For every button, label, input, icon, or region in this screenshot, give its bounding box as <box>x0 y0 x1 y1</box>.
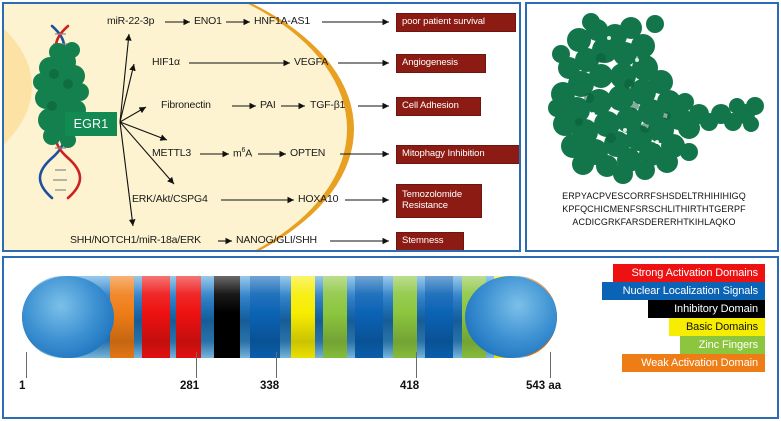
outcome-angiogenesis[interactable]: Angiogenesis <box>396 54 486 73</box>
node-m6a[interactable]: m6A <box>233 147 252 160</box>
egr1-figure: EGR1 <box>0 0 781 421</box>
outcome-cell-adhesion[interactable]: Cell Adhesion <box>396 97 481 116</box>
node-hnf1a-as1[interactable]: HNF1A-AS1 <box>254 15 310 27</box>
node-hoxa10[interactable]: HOXA10 <box>298 193 338 205</box>
domain-bar-wrapper <box>22 276 557 358</box>
protein-sequence: ERPYACPVESCORRFSHSDELTRHIHIHIGQ KPFQCHIC… <box>533 190 775 229</box>
outcome-mitophagy-inhibition[interactable]: Mitophagy Inhibition <box>396 145 519 164</box>
node-fibronectin[interactable]: Fibronectin <box>161 99 211 111</box>
stripe-zinc-finger-3 <box>462 276 486 358</box>
sequence-line-2: KPFQCHICMENFSRSCHLITHIRTHTGERPF <box>533 203 775 216</box>
domain-diagram-panel: 1 281 338 418 543 aa Strong Activation D… <box>2 256 779 419</box>
stripe-weak-activation-1 <box>110 276 134 358</box>
node-opten[interactable]: OPTEN <box>290 147 325 159</box>
node-shh-notch1[interactable]: SHH/NOTCH1/miR-18a/ERK <box>70 234 201 246</box>
tick-label-418: 418 <box>400 380 419 392</box>
stripe-strong-activation-1 <box>142 276 170 358</box>
legend-weak-activation-domain[interactable]: Weak Activation Domain <box>622 354 765 372</box>
stripe-nls-1 <box>250 276 280 358</box>
domain-bar[interactable] <box>22 276 557 358</box>
protein-panel: ERPYACPVESCORRFSHSDELTRHIHIHIGQ KPFQCHIC… <box>525 2 779 252</box>
tick-line-281 <box>196 352 197 378</box>
stripe-zinc-finger-1 <box>323 276 347 358</box>
stripe-basic-1 <box>291 276 315 358</box>
dna-protein-graphic <box>22 22 108 200</box>
stripe-weak-activation-2 <box>526 276 552 358</box>
tick-label-1: 1 <box>19 380 25 392</box>
node-vegfa[interactable]: VEGFA <box>294 56 328 68</box>
tick-label-338: 338 <box>260 380 279 392</box>
tick-line-338 <box>276 352 277 378</box>
node-hif1a[interactable]: HIF1α <box>152 56 180 68</box>
stripe-basic-2 <box>494 276 518 358</box>
tick-line-1 <box>26 352 27 378</box>
tick-line-418 <box>416 352 417 378</box>
legend-zinc-fingers[interactable]: Zinc Fingers <box>680 336 765 354</box>
node-pai[interactable]: PAI <box>260 99 276 111</box>
stripe-inhibitory-domain <box>214 276 240 358</box>
egr1-hub-node[interactable]: EGR1 <box>65 112 117 136</box>
node-nanog-gli-shh[interactable]: NANOG/GLI/SHH <box>236 234 317 246</box>
outcome-poor-patient-survival[interactable]: poor patient survival <box>396 13 516 32</box>
stripe-nls-2 <box>355 276 383 358</box>
sequence-line-1: ERPYACPVESCORRFSHSDELTRHIHIHIGQ <box>533 190 775 203</box>
node-erk-akt-cspg4[interactable]: ERK/Akt/CSPG4 <box>132 193 208 205</box>
legend-strong-activation-domains[interactable]: Strong Activation Domains <box>613 264 765 282</box>
outcome-stemness[interactable]: Stemness <box>396 232 464 250</box>
stripe-strong-activation-2 <box>176 276 201 358</box>
tick-line-543 <box>550 352 551 378</box>
protein-structure-model <box>539 10 767 188</box>
pathway-panel: EGR1 <box>2 2 521 252</box>
legend-nuclear-localization-signals[interactable]: Nuclear Localization Signals <box>602 282 765 300</box>
outcome-temozolomide-resistance[interactable]: Temozolomide Resistance <box>396 184 482 218</box>
node-mir-22-3p[interactable]: miR-22-3p <box>107 15 154 27</box>
stripe-nls-3 <box>425 276 453 358</box>
legend-basic-domains[interactable]: Basic Domains <box>669 318 765 336</box>
stripe-zinc-finger-2 <box>393 276 417 358</box>
tick-label-543-aa: 543 aa <box>526 380 561 392</box>
node-eno1[interactable]: ENO1 <box>194 15 222 27</box>
outcome-tmz-line2: Resistance <box>402 201 448 212</box>
tick-label-281: 281 <box>180 380 199 392</box>
sequence-line-3: ACDICGRKFARSDERERHTKIHLAQKO <box>533 216 775 229</box>
node-mettl3[interactable]: METTL3 <box>152 147 191 159</box>
node-tgf-beta1[interactable]: TGF-β1 <box>310 99 345 111</box>
legend-inhibitory-domain[interactable]: Inhibitory Domain <box>648 300 765 318</box>
